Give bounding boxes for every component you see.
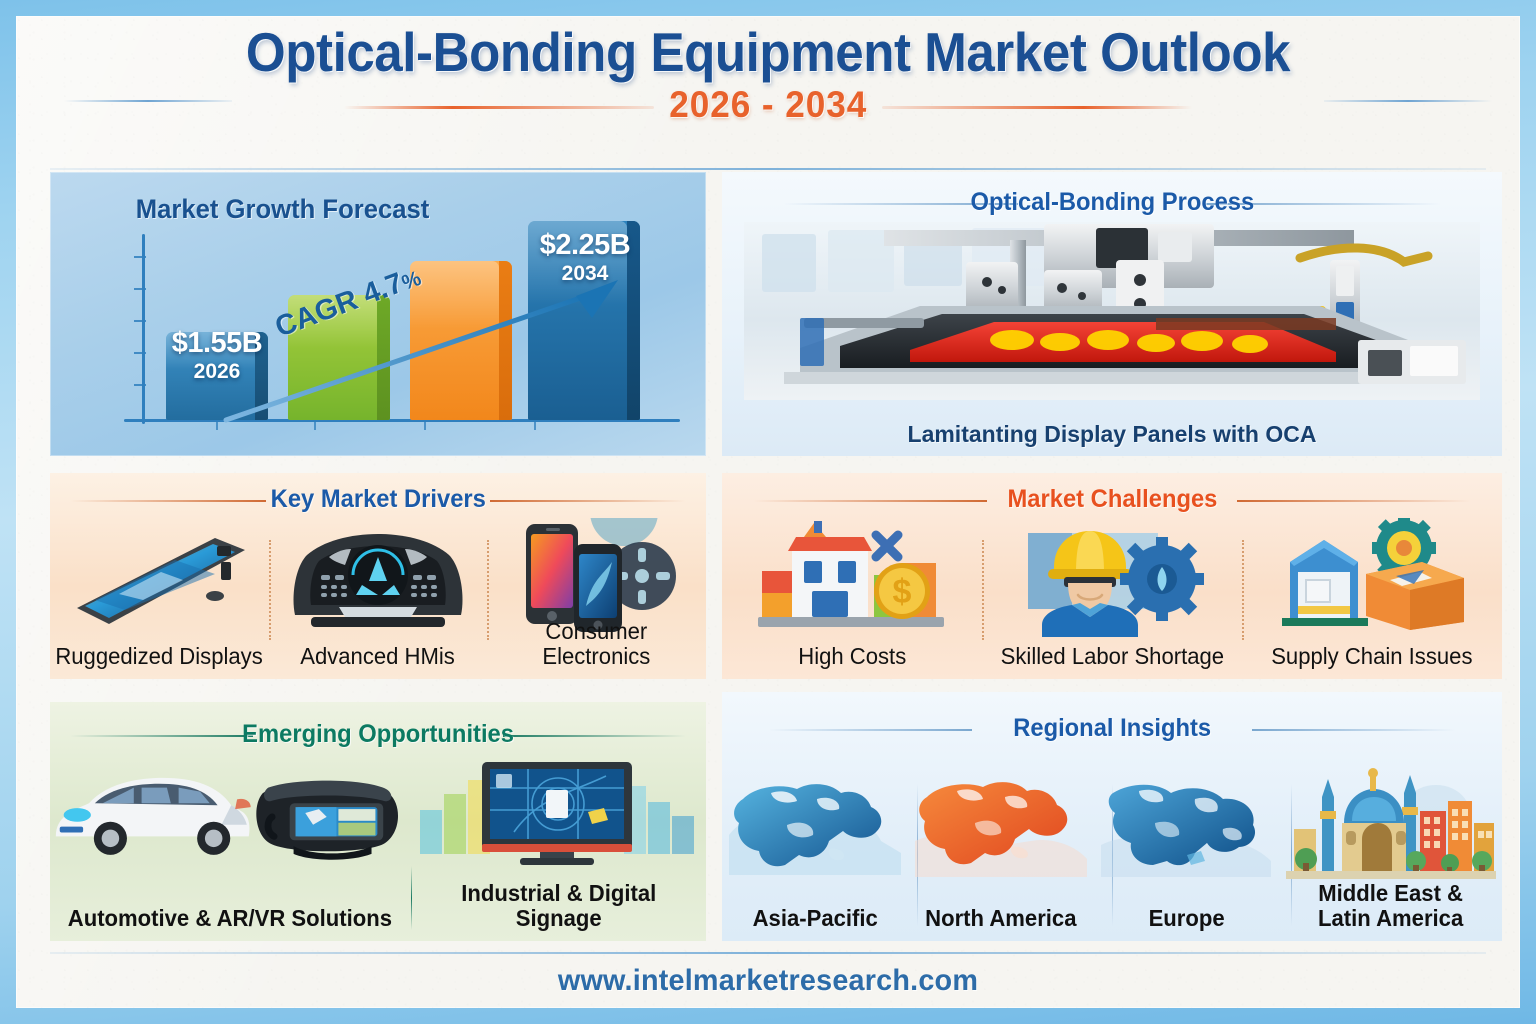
driver-item-ruggedized-displays[interactable]: Ruggedized Displays xyxy=(50,517,269,679)
region-label: North America xyxy=(925,906,1076,941)
factory-dollar-icon: $ xyxy=(722,521,982,633)
map-world-blue-icon xyxy=(1093,754,1279,895)
challenges-list: $ High Costs xyxy=(722,517,1502,679)
challenge-label: Supply Chain Issues xyxy=(1271,644,1472,679)
regional-title: Regional Insights xyxy=(1000,714,1225,743)
region-item-middle-east-latin-america[interactable]: Middle East & Latin America xyxy=(1279,750,1502,941)
y-axis-tick xyxy=(134,256,146,258)
drivers-header: Key Market Drivers xyxy=(50,485,706,514)
header-divider xyxy=(50,168,1486,170)
worker-gear-icon xyxy=(982,521,1242,633)
regional-header: Regional Insights xyxy=(722,714,1502,743)
opportunities-title: Emerging Opportunities xyxy=(229,720,527,749)
growth-arrow-icon xyxy=(220,272,650,432)
region-item-north-america[interactable]: North America xyxy=(908,750,1094,941)
process-header: Optical-Bonding Process xyxy=(722,188,1502,217)
footer-url[interactable]: www.intelmarketresearch.com xyxy=(46,964,1490,998)
regional-insights-panel: Regional Insights xyxy=(722,692,1502,941)
challenge-item-supply-chain-issues[interactable]: Supply Chain Issues xyxy=(1242,517,1502,679)
opportunities-header: Emerging Opportunities xyxy=(50,720,706,749)
driver-item-consumer-electronics[interactable]: Consumer Electronics xyxy=(487,517,706,679)
region-item-asia-pacific[interactable]: Asia-Pacific xyxy=(722,750,908,941)
opportunity-item-industrial-signage[interactable]: Industrial & Digital Signage xyxy=(411,754,707,941)
y-axis-tick xyxy=(134,352,146,354)
process-title: Optical-Bonding Process xyxy=(957,188,1267,217)
challenges-header: Market Challenges xyxy=(722,485,1502,514)
y-axis xyxy=(142,234,145,424)
region-label: Asia-Pacific xyxy=(752,906,877,941)
subtitle-rule-left xyxy=(344,106,654,109)
x-axis-tick xyxy=(216,421,218,430)
chart-title: Market Growth Forecast xyxy=(136,194,430,225)
driver-label: Consumer Electronics xyxy=(492,619,702,679)
challenges-title: Market Challenges xyxy=(994,485,1230,514)
bonding-machine-photo xyxy=(744,222,1480,400)
monitor-icon xyxy=(411,758,707,867)
driver-label: Advanced HMis xyxy=(301,644,456,679)
region-label: Middle East & Latin America xyxy=(1318,881,1463,941)
region-label: Europe xyxy=(1148,906,1224,941)
bar-chart: $1.55B 2026 $2.25B 2034 CAGR 4.7% xyxy=(124,234,684,434)
market-challenges-panel: Market Challenges xyxy=(722,473,1502,679)
infographic-canvas: Optical-Bonding Equipment Market Outlook… xyxy=(16,16,1520,1008)
challenge-item-skilled-labor-shortage[interactable]: Skilled Labor Shortage xyxy=(982,517,1242,679)
drivers-list: Ruggedized Displays xyxy=(50,517,706,679)
opportunity-item-automotive-arvr[interactable]: Automotive & AR/VR Solutions xyxy=(50,754,411,941)
svg-text:$: $ xyxy=(893,573,912,611)
map-orange-icon xyxy=(908,754,1094,895)
rugged-tablet-icon xyxy=(50,521,269,633)
challenge-label: Skilled Labor Shortage xyxy=(1000,644,1223,679)
challenge-label: High Costs xyxy=(798,644,906,679)
process-caption: Lamitanting Display Panels with OCA xyxy=(722,421,1502,448)
drivers-title: Key Market Drivers xyxy=(257,485,499,514)
emerging-opportunities-panel: Emerging Opportunities xyxy=(50,702,706,941)
opportunity-label: Industrial & Digital Signage xyxy=(416,881,700,941)
header: Optical-Bonding Equipment Market Outlook… xyxy=(16,24,1520,132)
subtitle-rule-right xyxy=(882,106,1192,109)
car-vr-icon xyxy=(50,758,411,867)
y-axis-tick xyxy=(134,288,146,290)
driver-item-advanced-hmis[interactable]: Advanced HMis xyxy=(269,517,488,679)
y-axis-tick xyxy=(134,384,146,386)
optical-bonding-process-panel: Optical-Bonding Process xyxy=(722,172,1502,456)
car-dashboard-icon xyxy=(269,521,488,633)
footer-divider xyxy=(50,952,1486,954)
opportunities-list: Automotive & AR/VR Solutions xyxy=(50,754,706,941)
page-title: Optical-Bonding Equipment Market Outlook xyxy=(69,24,1468,82)
region-item-europe[interactable]: Europe xyxy=(1093,750,1279,941)
map-blue-icon xyxy=(722,754,908,895)
y-axis-tick xyxy=(134,320,146,322)
regional-list: Asia-Pacific xyxy=(722,750,1502,941)
opportunity-label: Automotive & AR/VR Solutions xyxy=(68,906,392,941)
market-growth-forecast-panel: Market Growth Forecast xyxy=(50,172,706,456)
smartphones-icon xyxy=(487,521,706,633)
key-market-drivers-panel: Key Market Drivers xyxy=(50,473,706,679)
page-subtitle: 2026 - 2034 xyxy=(669,84,867,126)
driver-label: Ruggedized Displays xyxy=(56,644,263,679)
challenge-item-high-costs[interactable]: $ High Costs xyxy=(722,517,982,679)
cityscape-icon xyxy=(1279,754,1502,895)
warehouse-box-icon xyxy=(1242,521,1502,633)
